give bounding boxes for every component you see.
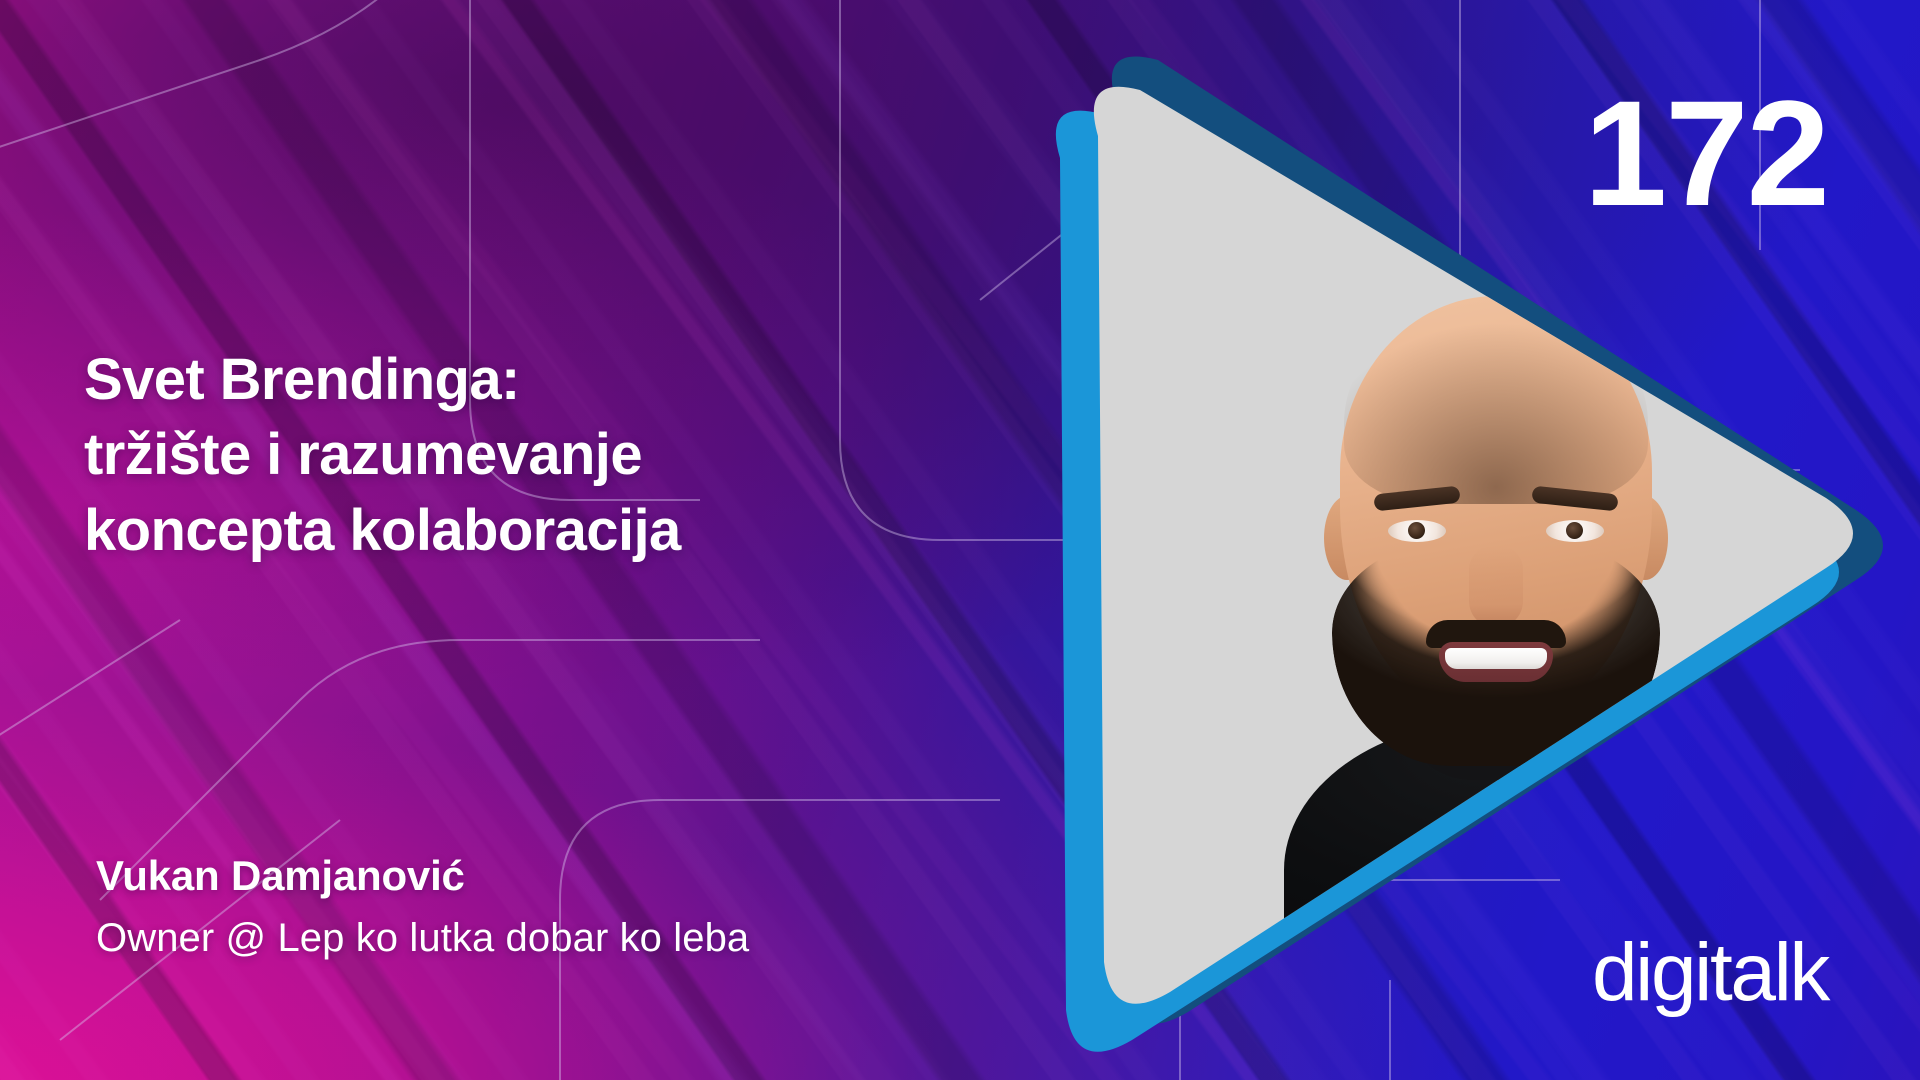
speaker-name: Vukan Damjanović	[96, 852, 465, 900]
page-title: Svet Brendinga: tržište i razumevanje ko…	[84, 342, 964, 568]
podcast-episode-cover: 172 Svet Brendinga: tržište i razumevanj…	[0, 0, 1920, 1080]
episode-number: 172	[1584, 78, 1828, 228]
digitalk-logo: digitalk	[1592, 932, 1828, 1014]
speaker-role: Owner @ Lep ko lutka dobar ko leba	[96, 916, 749, 961]
